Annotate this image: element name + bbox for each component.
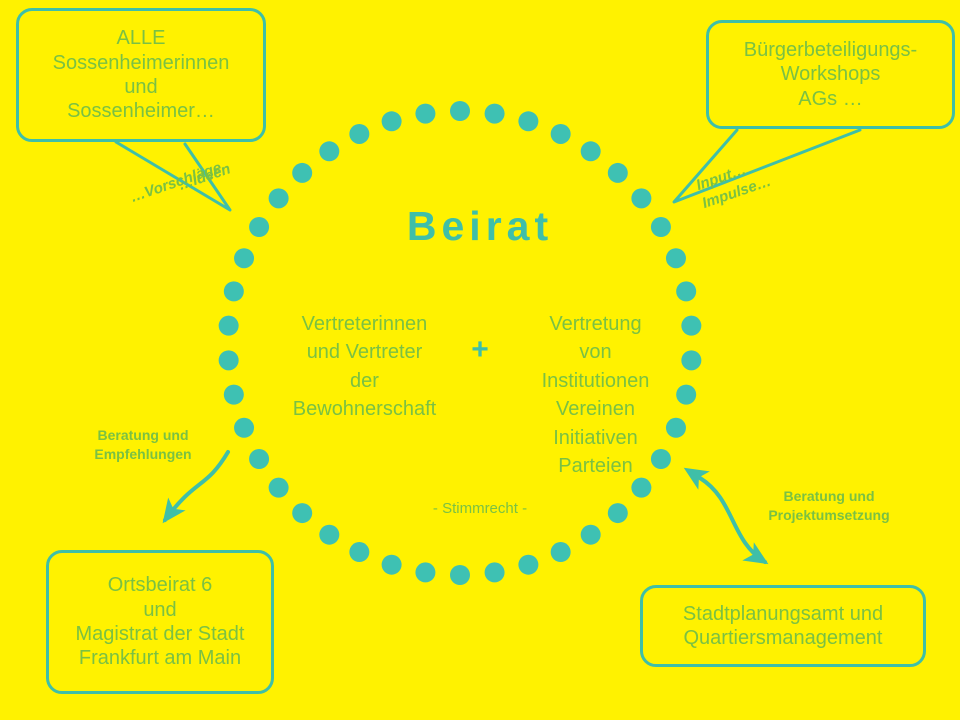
col-right-line-2: von	[503, 338, 688, 366]
circle-dot	[382, 111, 402, 131]
col-right-line-4: Vereinen	[503, 395, 688, 423]
circle-dot	[666, 248, 686, 268]
circle-dot	[518, 555, 538, 575]
box-ortsbeirat-magistrat: Ortsbeirat 6 und Magistrat der Stadt Fra…	[46, 550, 274, 694]
label-beratung-empfehlungen-line-2: Empfehlungen	[78, 445, 208, 464]
bubble-alle-line-1: ALLE	[117, 26, 166, 50]
label-beratung-empfehlungen: Beratung und Empfehlungen	[78, 426, 208, 464]
bubble-alle-line-4: Sossenheimer…	[67, 99, 215, 123]
circle-dot	[450, 101, 470, 121]
bubble-workshops-line-1: Bürgerbeteiligungs-	[744, 38, 917, 62]
circle-dot	[581, 141, 601, 161]
label-beratung-projekt-line-1: Beratung und	[748, 487, 910, 506]
bubble-alle-line-3: und	[124, 75, 157, 99]
column-bewohnerschaft: Vertreterinnen und Vertreter der Bewohne…	[272, 310, 457, 424]
circle-dot	[415, 562, 435, 582]
box-ortsbeirat-line-3: Magistrat der Stadt	[76, 622, 245, 646]
col-left-line-2: und Vertreter	[272, 338, 457, 366]
center-columns: Vertreterinnen und Vertreter der Bewohne…	[250, 310, 710, 480]
box-ortsbeirat-line-1: Ortsbeirat 6	[108, 573, 212, 597]
col-right-line-3: Institutionen	[503, 367, 688, 395]
circle-dot	[608, 163, 628, 183]
bubble-workshops-line-2: Workshops	[781, 62, 881, 86]
bubble-buergerbeteiligung: Bürgerbeteiligungs- Workshops AGs …	[706, 20, 955, 129]
column-institutionen: Vertretung von Institutionen Vereinen In…	[503, 310, 688, 480]
circle-dot	[319, 525, 339, 545]
circle-dot	[269, 478, 289, 498]
circle-dot	[224, 281, 244, 301]
circle-dot	[551, 542, 571, 562]
col-right-line-5: Initiativen	[503, 424, 688, 452]
col-right-line-1: Vertretung	[503, 310, 688, 338]
circle-dot	[219, 316, 239, 336]
page-title: Beirat	[0, 203, 960, 250]
box-stadtplanung-line-1: Stadtplanungsamt und	[683, 602, 883, 626]
circle-dot	[415, 104, 435, 124]
bubble-alle-line-2: Sossenheimerinnen	[53, 51, 230, 75]
col-left-line-4: Bewohnerschaft	[272, 395, 457, 423]
circle-dot	[485, 562, 505, 582]
plus-icon: +	[457, 310, 503, 368]
box-ortsbeirat-line-4: Frankfurt am Main	[79, 646, 241, 670]
circle-dot	[450, 565, 470, 585]
box-ortsbeirat-line-2: und	[143, 598, 176, 622]
circle-dot	[631, 478, 651, 498]
circle-dot	[551, 124, 571, 144]
circle-dot	[518, 111, 538, 131]
circle-dot	[349, 124, 369, 144]
circle-dot	[676, 281, 696, 301]
circle-dot	[224, 385, 244, 405]
circle-dot	[319, 141, 339, 161]
col-left-line-3: der	[272, 367, 457, 395]
circle-dot	[219, 350, 239, 370]
label-beratung-projekt-line-2: Projektumsetzung	[748, 506, 910, 525]
circle-dot	[292, 163, 312, 183]
bubble-alle-sossenheimer: ALLE Sossenheimerinnen und Sossenheimer…	[16, 8, 266, 142]
label-beratung-projektumsetzung: Beratung und Projektumsetzung	[748, 487, 910, 525]
circle-dot	[485, 104, 505, 124]
box-stadtplanungsamt: Stadtplanungsamt und Quartiersmanagement	[640, 585, 926, 667]
diagram-canvas: Beirat Vertreterinnen und Vertreter der …	[0, 0, 960, 720]
label-beratung-empfehlungen-line-1: Beratung und	[78, 426, 208, 445]
bubble-workshops-line-3: AGs …	[798, 87, 862, 111]
circle-dot	[234, 248, 254, 268]
circle-dot	[382, 555, 402, 575]
circle-dot	[581, 525, 601, 545]
col-right-line-6: Parteien	[503, 452, 688, 480]
col-left-line-1: Vertreterinnen	[272, 310, 457, 338]
circle-dot	[349, 542, 369, 562]
box-stadtplanung-line-2: Quartiersmanagement	[684, 626, 883, 650]
